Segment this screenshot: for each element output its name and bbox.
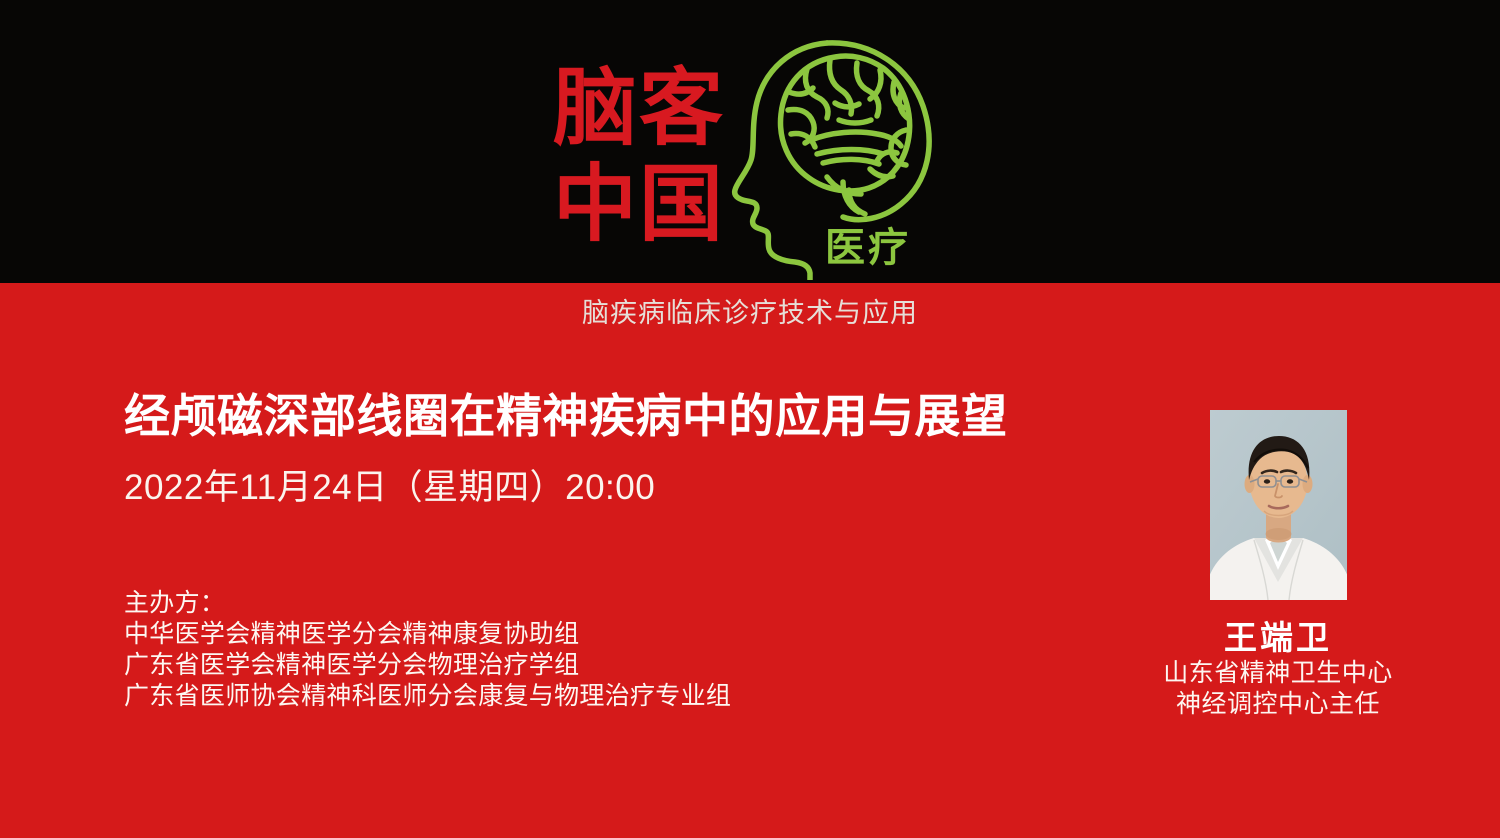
organizer-item: 广东省医师协会精神科医师分会康复与物理治疗专业组 — [124, 681, 731, 712]
logo-wordmark-line-2: 中国 — [553, 160, 725, 248]
organizers-label: 主办方： — [124, 588, 731, 619]
speaker-portrait — [1210, 410, 1347, 600]
lecture-title: 经颅磁深部线圈在精神疾病中的应用与展望 — [124, 388, 1008, 444]
speaker-block: 王端卫 山东省精神卫生中心 神经调控中心主任 — [1128, 410, 1428, 720]
logo-sub-label: 医疗 — [825, 226, 911, 270]
brand-logo: 脑客 中国 — [553, 48, 953, 288]
organizer-item: 广东省医学会精神医学分会物理治疗学组 — [124, 650, 731, 681]
organizer-item: 中华医学会精神医学分会精神康复协助组 — [124, 619, 731, 650]
logo-wordmark-line-1: 脑客 — [553, 64, 725, 152]
organizers-block: 主办方： 中华医学会精神医学分会精神康复协助组 广东省医学会精神医学分会物理治疗… — [124, 588, 731, 712]
speaker-affiliation-line: 神经调控中心主任 — [1128, 689, 1428, 720]
series-subtitle: 脑疾病临床诊疗技术与应用 — [0, 291, 1500, 330]
speaker-affiliation: 山东省精神卫生中心 神经调控中心主任 — [1128, 658, 1428, 720]
lecture-datetime: 2022年11月24日（星期四）20:00 — [124, 466, 655, 510]
lecture-poster: 脑客 中国 — [0, 0, 1500, 838]
speaker-name: 王端卫 — [1128, 618, 1428, 658]
speaker-affiliation-line: 山东省精神卫生中心 — [1128, 658, 1428, 689]
header-band: 脑客 中国 — [0, 0, 1500, 283]
